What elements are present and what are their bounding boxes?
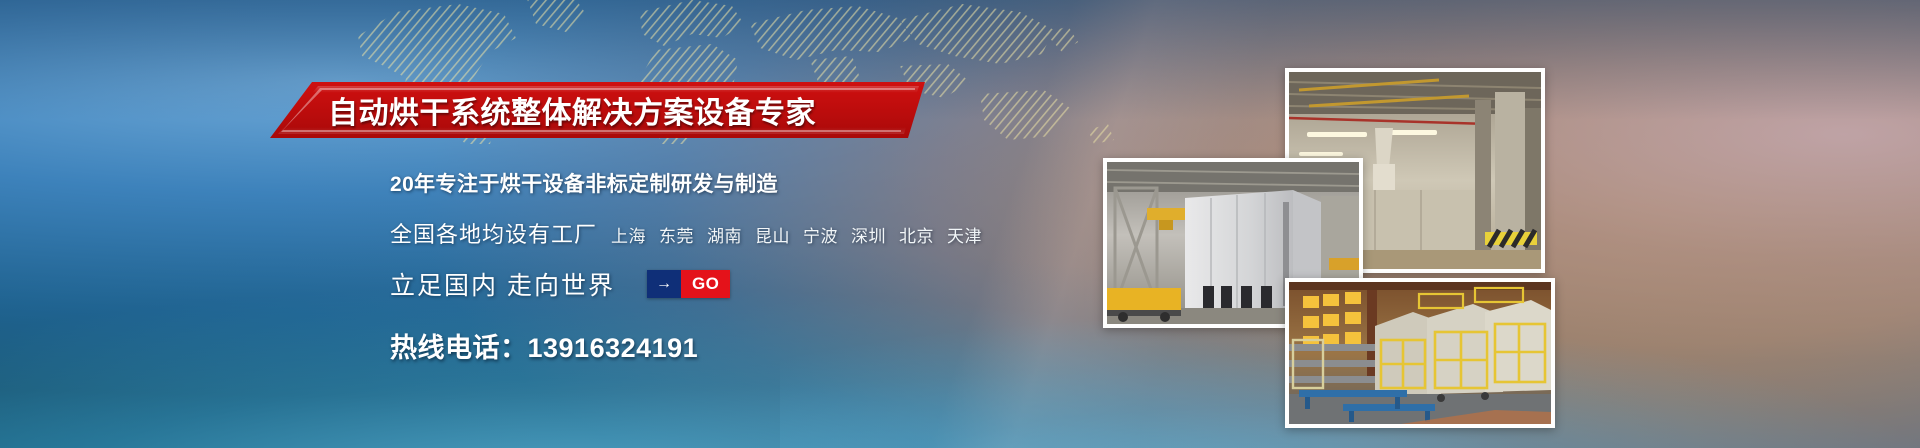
headline-banner: 自动烘干系统整体解决方案设备专家 [270,82,925,138]
city-item: 上海 [611,222,646,247]
city-item: 宁波 [803,222,838,247]
factories-lead-text: 全国各地均设有工厂 [390,217,597,249]
city-item: 湖南 [707,222,742,247]
city-item: 天津 [947,222,982,247]
city-list: 上海 东莞 湖南 昆山 宁波 深圳 北京 天津 [611,222,982,247]
city-item: 昆山 [755,222,790,247]
slogan-text: 立足国内 走向世界 [390,266,615,302]
tagline-text: 20年专注于烘干设备非标定制研发与制造 [390,168,1110,198]
hotline-text: 热线电话：13916324191 [390,326,1110,365]
factories-line: 全国各地均设有工厂 上海 东莞 湖南 昆山 宁波 深圳 北京 天津 [390,217,1110,249]
photo-frame [1289,282,1551,424]
go-button-label: GO [681,270,730,298]
copy-block: 20年专注于烘干设备非标定制研发与制造 全国各地均设有工厂 上海 东莞 湖南 昆… [390,168,1110,365]
go-button[interactable]: → GO [647,270,730,298]
city-item: 东莞 [659,222,694,247]
city-item: 北京 [899,222,934,247]
photo-drying-chambers [1285,278,1555,428]
city-item: 深圳 [851,222,886,247]
headline-text: 自动烘干系统整体解决方案设备专家 [328,88,816,132]
slogan-line: 立足国内 走向世界 → GO [390,266,1110,302]
promo-banner: 自动烘干系统整体解决方案设备专家 20年专注于烘干设备非标定制研发与制造 全国各… [0,0,1920,448]
arrow-right-icon: → [647,270,681,298]
